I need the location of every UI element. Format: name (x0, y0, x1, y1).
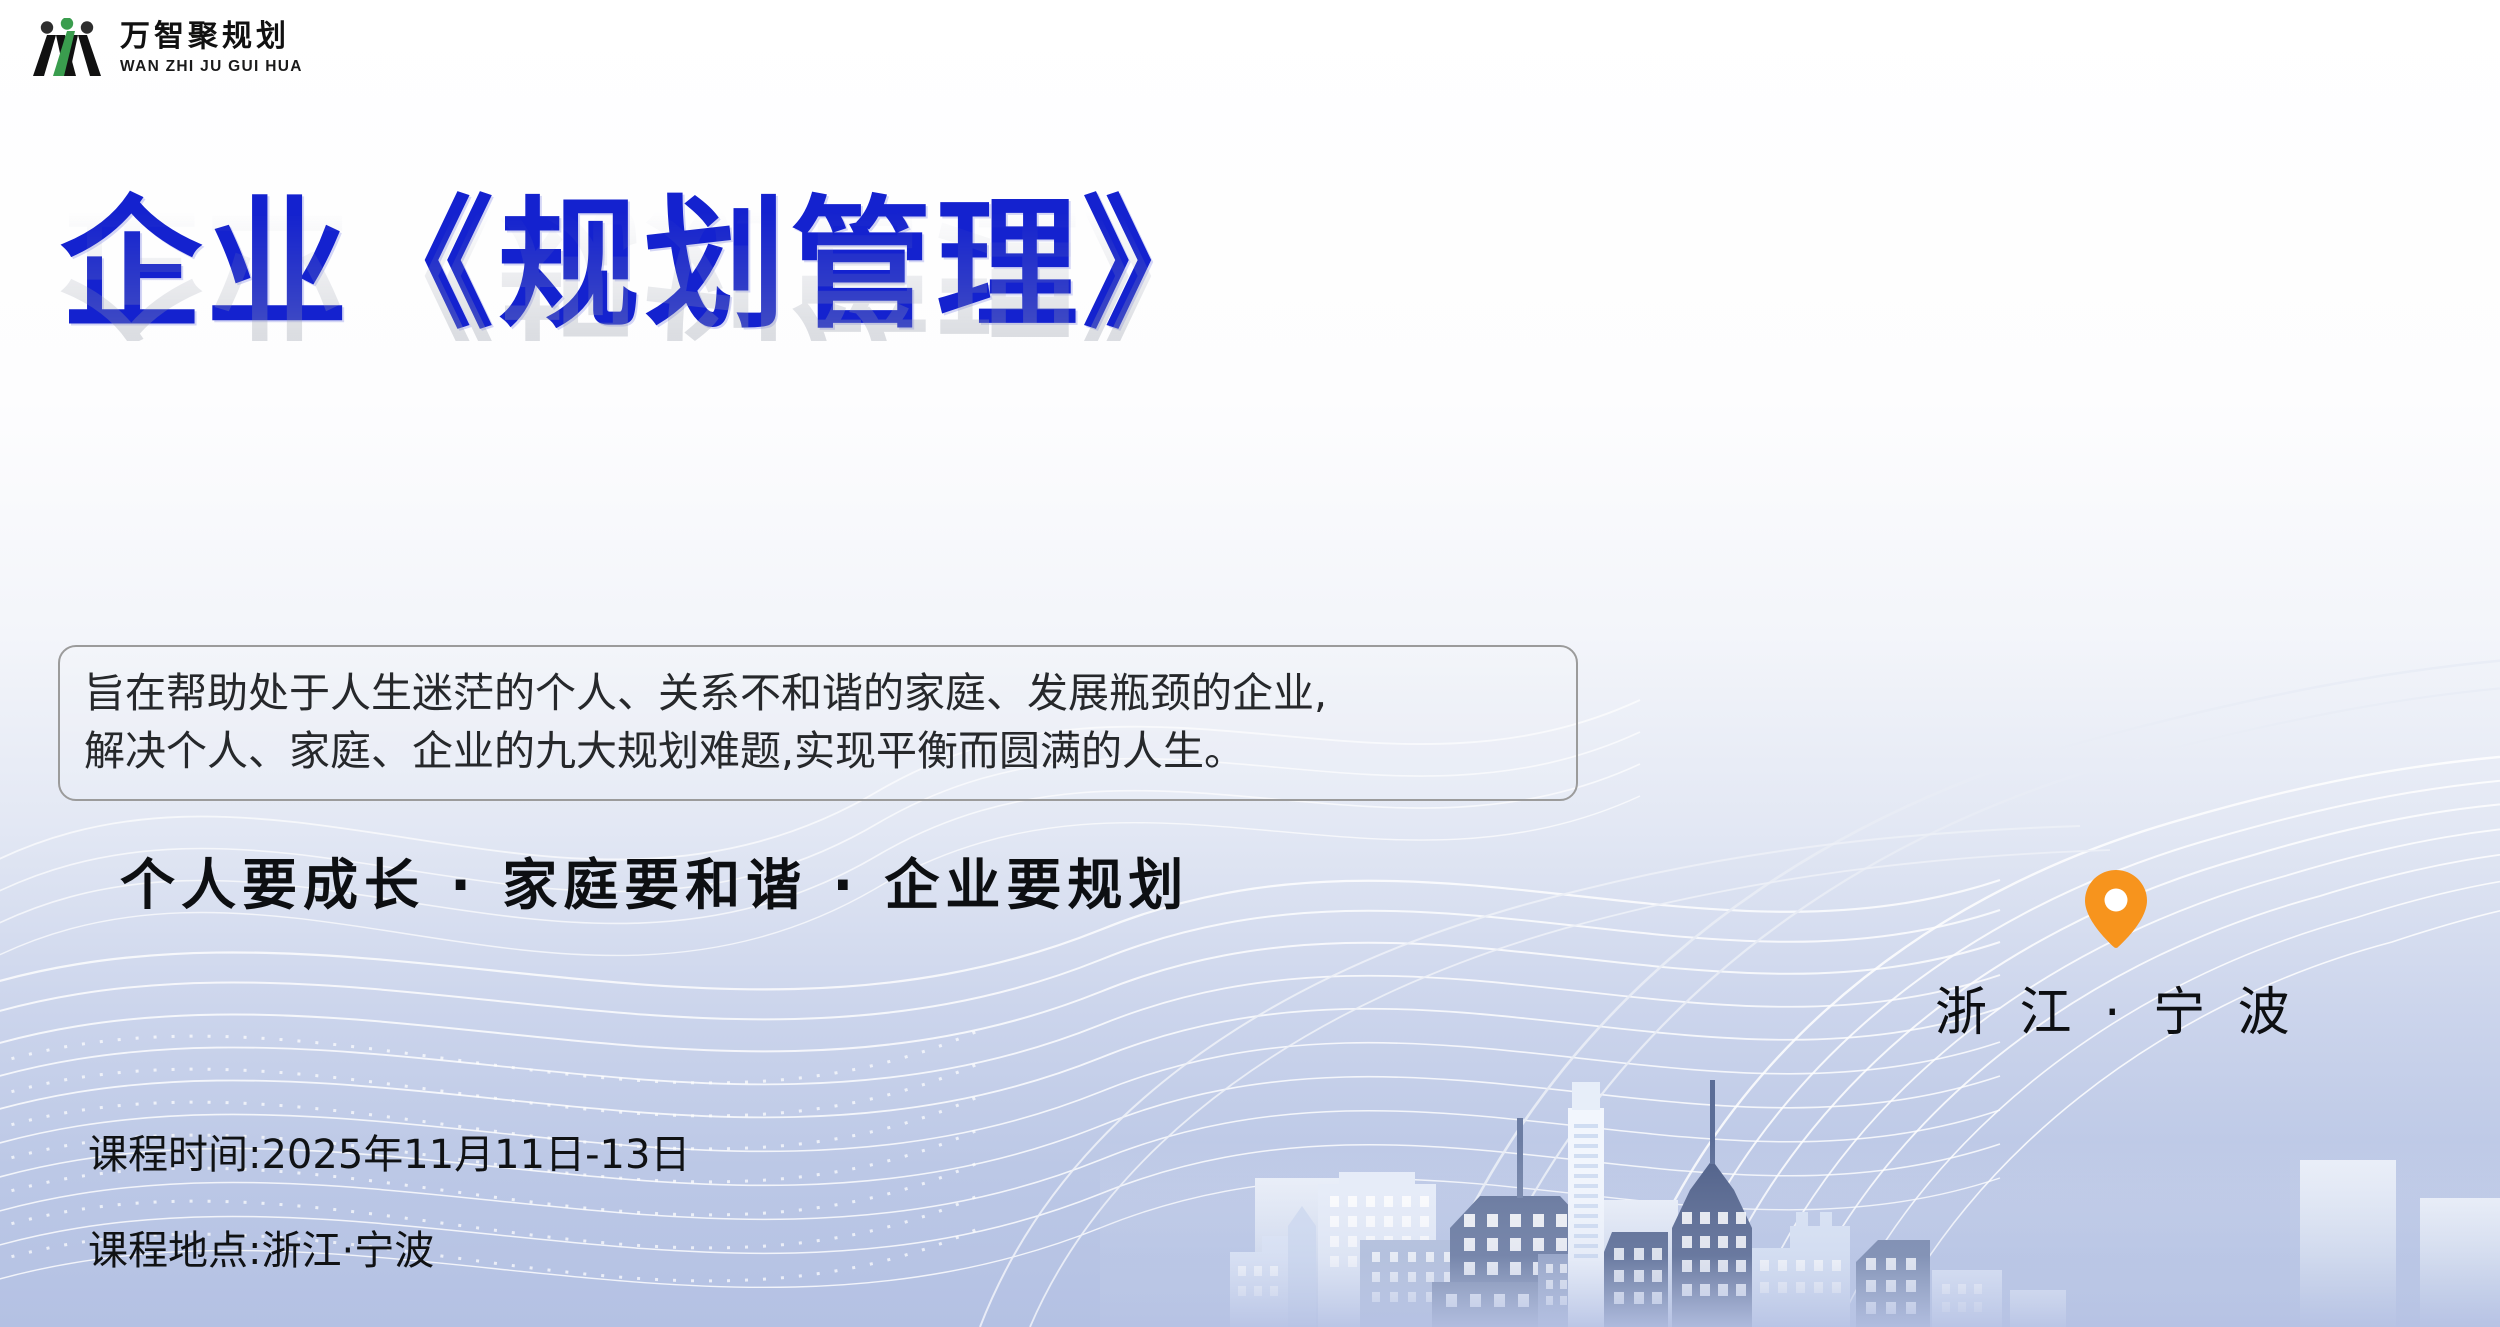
tagline: 个人要成长 · 家庭要和谐 · 企业要规划 (120, 840, 1189, 920)
hero-title-block: 企业《规划管理》 企业《规划管理》 (60, 195, 1660, 483)
brand-logo-text: 万智聚规划 WAN ZHI JU GUI HUA (120, 22, 303, 75)
brand-logo[interactable]: 万智聚规划 WAN ZHI JU GUI HUA (30, 18, 303, 78)
map-pin-icon (2085, 870, 2147, 948)
description-line-1: 旨在帮助处于人生迷茫的个人、关系不和谐的家庭、发展瓶颈的企业, (84, 664, 1554, 722)
location-label: 浙 江 · 宁 波 (1935, 970, 2298, 1045)
city-skyline-group (1100, 1080, 2500, 1327)
three-people-m-logo-icon (30, 18, 104, 78)
course-time: 课程时间:2025年11月11日-13日 (88, 1122, 690, 1180)
description-line-2: 解决个人、家庭、企业的九大规划难题,实现平衡而圆满的人生。 (84, 722, 1554, 780)
brand-name-en: WAN ZHI JU GUI HUA (120, 59, 303, 75)
course-meta: 课程时间:2025年11月11日-13日 课程地点:浙江·宁波 (88, 1122, 690, 1276)
brand-name-cn: 万智聚规划 (120, 22, 303, 52)
poster-canvas: 万智聚规划 WAN ZHI JU GUI HUA 企业《规划管理》 企业《规划管… (0, 0, 2500, 1327)
course-place: 课程地点:浙江·宁波 (88, 1218, 690, 1276)
description-box: 旨在帮助处于人生迷茫的个人、关系不和谐的家庭、发展瓶颈的企业, 解决个人、家庭、… (58, 645, 1578, 801)
location-badge: 浙 江 · 宁 波 (1935, 870, 2298, 1045)
page-title-reflection: 企业《规划管理》 (60, 199, 1660, 341)
